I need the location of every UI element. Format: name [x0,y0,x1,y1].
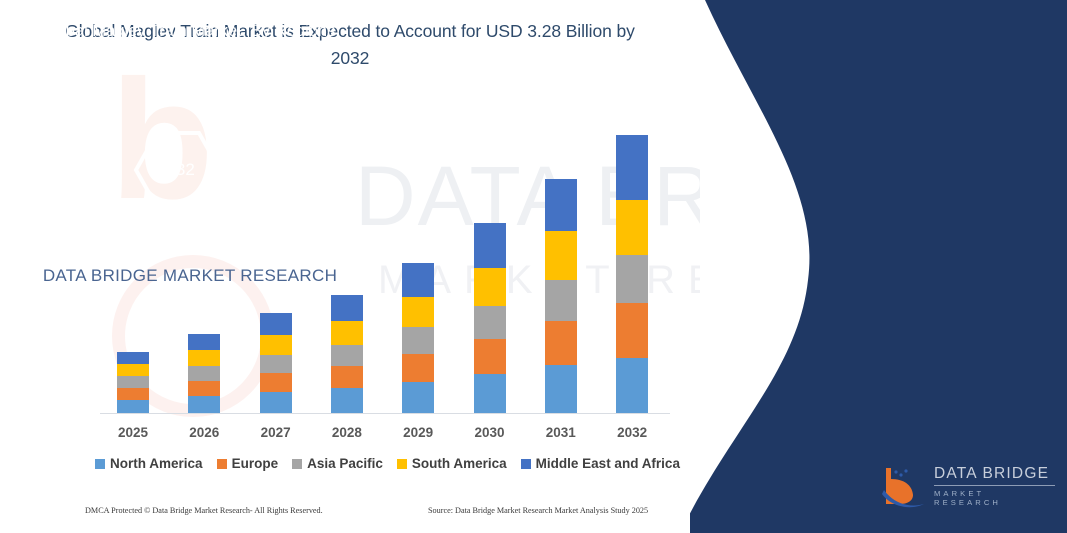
hexagon-icons [115,95,315,215]
legend-item[interactable]: South America [397,456,507,471]
legend-swatch-icon [95,459,105,469]
bar-segment [117,376,149,388]
bar-segment [474,306,506,339]
bar-segment [616,200,648,255]
x-tick-label: 2025 [98,425,168,440]
bar-segment [402,382,434,413]
bar-2030 [474,223,506,413]
bar-segment [402,354,434,382]
bar-segment [331,345,363,366]
infographic-canvas: b DATA BRIDGE MARKET RESEARCH Global Mag… [0,0,1067,533]
bar-segment [188,334,220,350]
legend-item[interactable]: Asia Pacific [292,456,383,471]
logo-title: DATA BRIDGE [934,465,1055,486]
legend-item[interactable]: North America [95,456,203,471]
legend-label: Europe [232,456,279,471]
bar-segment [616,135,648,200]
bar-segment [474,339,506,374]
bar-segment [331,366,363,388]
bar-segment [616,303,648,358]
bar-segment [117,388,149,400]
legend-swatch-icon [292,459,302,469]
badge-end-year: 2032 [157,160,195,180]
footer-copyright: DMCA Protected © Data Bridge Market Rese… [85,506,323,515]
bar-segment [188,366,220,381]
logo-mark-icon [880,464,926,508]
chart-legend: North AmericaEuropeAsia PacificSouth Ame… [100,456,675,471]
bar-segment [331,321,363,345]
bar-segment [402,263,434,297]
bar-segment [260,373,292,392]
bar-segment [616,255,648,303]
legend-label: North America [110,456,203,471]
bar-segment [188,381,220,396]
bar-2025 [117,352,149,413]
bar-segment [331,388,363,413]
bar-segment [474,223,506,268]
x-tick-label: 2031 [526,425,596,440]
bar-2026 [188,334,220,413]
bar-segment [545,179,577,231]
bar-2027 [260,313,292,413]
logo-subtitle: MARKET RESEARCH [934,489,1055,507]
x-tick-label: 2029 [383,425,453,440]
bar-segment [117,400,149,413]
right-navy-panel [690,0,1067,533]
bar-segment [402,327,434,354]
bar-segment [260,392,292,413]
brand-name: DATA BRIDGE MARKET RESEARCH [15,262,365,289]
bar-2029 [402,263,434,413]
bar-segment [188,350,220,366]
x-tick-label: 2030 [455,425,525,440]
hexagon-badges: 2025 2032 [115,95,315,215]
legend-swatch-icon [217,459,227,469]
bar-segment [260,313,292,335]
bar-segment [545,280,577,321]
x-tick-label: 2028 [312,425,382,440]
badge-start-year: 2025 [234,128,272,148]
bar-segment [117,364,149,376]
bar-segment [474,374,506,413]
legend-item[interactable]: Middle East and Africa [521,456,680,471]
bar-2032 [616,135,648,413]
panel-title: Global Maglev Train Market, By Regions, … [20,18,360,72]
legend-label: Asia Pacific [307,456,383,471]
bar-segment [545,321,577,365]
bar-segment [260,355,292,373]
bar-segment [188,396,220,413]
legend-label: Middle East and Africa [536,456,680,471]
bar-segment [545,231,577,280]
x-tick-label: 2026 [169,425,239,440]
x-tick-label: 2027 [241,425,311,440]
company-logo: DATA BRIDGE MARKET RESEARCH [880,462,1055,510]
x-axis-line [100,413,670,414]
bar-segment [616,358,648,413]
logo-text: DATA BRIDGE MARKET RESEARCH [934,465,1055,507]
bar-2028 [331,295,363,413]
bar-segment [545,365,577,413]
bar-2031 [545,179,577,413]
footer: DMCA Protected © Data Bridge Market Rese… [0,506,690,526]
legend-label: South America [412,456,507,471]
footer-source: Source: Data Bridge Market Research Mark… [428,506,648,515]
legend-item[interactable]: Europe [217,456,279,471]
legend-swatch-icon [397,459,407,469]
bar-segment [260,335,292,355]
bar-segment [331,295,363,321]
legend-swatch-icon [521,459,531,469]
bar-segment [474,268,506,306]
bar-segment [117,352,149,364]
bar-segment [402,297,434,327]
x-tick-label: 2032 [597,425,667,440]
